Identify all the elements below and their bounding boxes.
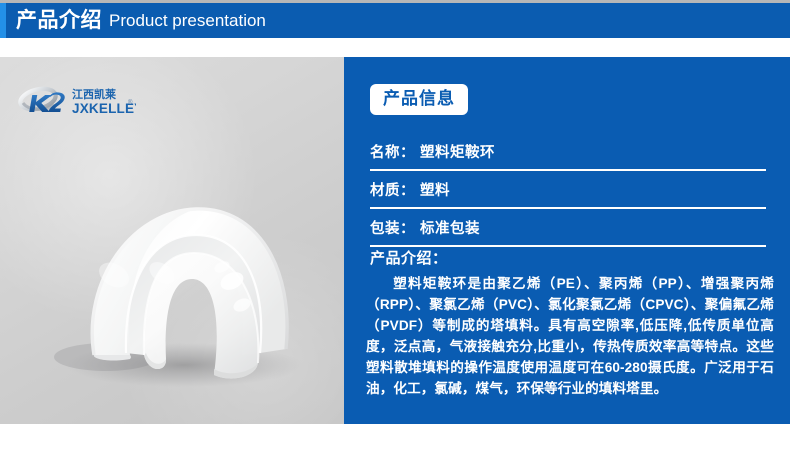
spec-value-packaging: 标准包装	[420, 217, 480, 238]
page-title-cn: 产品介绍	[16, 10, 102, 31]
spec-row-name: 名称： 塑料矩鞍环	[370, 133, 766, 171]
product-description-title: 产品介绍：	[370, 247, 774, 268]
product-info-panel: 产品信息 名称： 塑料矩鞍环 材质： 塑料 包装： 标准包装 产品介绍： 塑料矩…	[344, 57, 790, 424]
spec-label-material: 材质：	[370, 179, 415, 200]
section-header-bar: 产品介绍 Product presentation	[0, 3, 790, 38]
spec-value-name: 塑料矩鞍环	[420, 141, 495, 162]
spec-row-packaging: 包装： 标准包装	[370, 209, 766, 247]
spec-row-material: 材质： 塑料	[370, 171, 766, 209]
content-area: 江西凯莱 JXKELLEY ®	[0, 57, 790, 424]
product-info-badge: 产品信息	[370, 84, 468, 115]
product-photo-saddle-ring	[36, 177, 316, 392]
product-description-body: 塑料矩鞍环是由聚乙烯（PE）、聚丙烯（PP）、增强聚丙烯（RPP）、聚氯乙烯（P…	[366, 273, 774, 399]
product-description-block: 产品介绍： 塑料矩鞍环是由聚乙烯（PE）、聚丙烯（PP）、增强聚丙烯（RPP）、…	[366, 247, 774, 399]
logo-en-name: JXKELLEY	[72, 101, 136, 116]
header-accent-stripe	[0, 3, 6, 38]
product-spec-list: 名称： 塑料矩鞍环 材质： 塑料 包装： 标准包装	[370, 133, 766, 247]
spec-label-name: 名称：	[370, 141, 415, 162]
logo-cn-name: 江西凯莱	[72, 87, 116, 101]
spec-label-packaging: 包装：	[370, 217, 415, 238]
spec-value-material: 塑料	[420, 179, 450, 200]
brand-logo: 江西凯莱 JXKELLEY ®	[18, 85, 136, 119]
page-title-en: Product presentation	[109, 12, 266, 29]
product-image-panel: 江西凯莱 JXKELLEY ®	[0, 57, 344, 424]
logo-trademark-icon: ®	[128, 99, 133, 106]
page-title: 产品介绍 Product presentation	[16, 3, 266, 38]
